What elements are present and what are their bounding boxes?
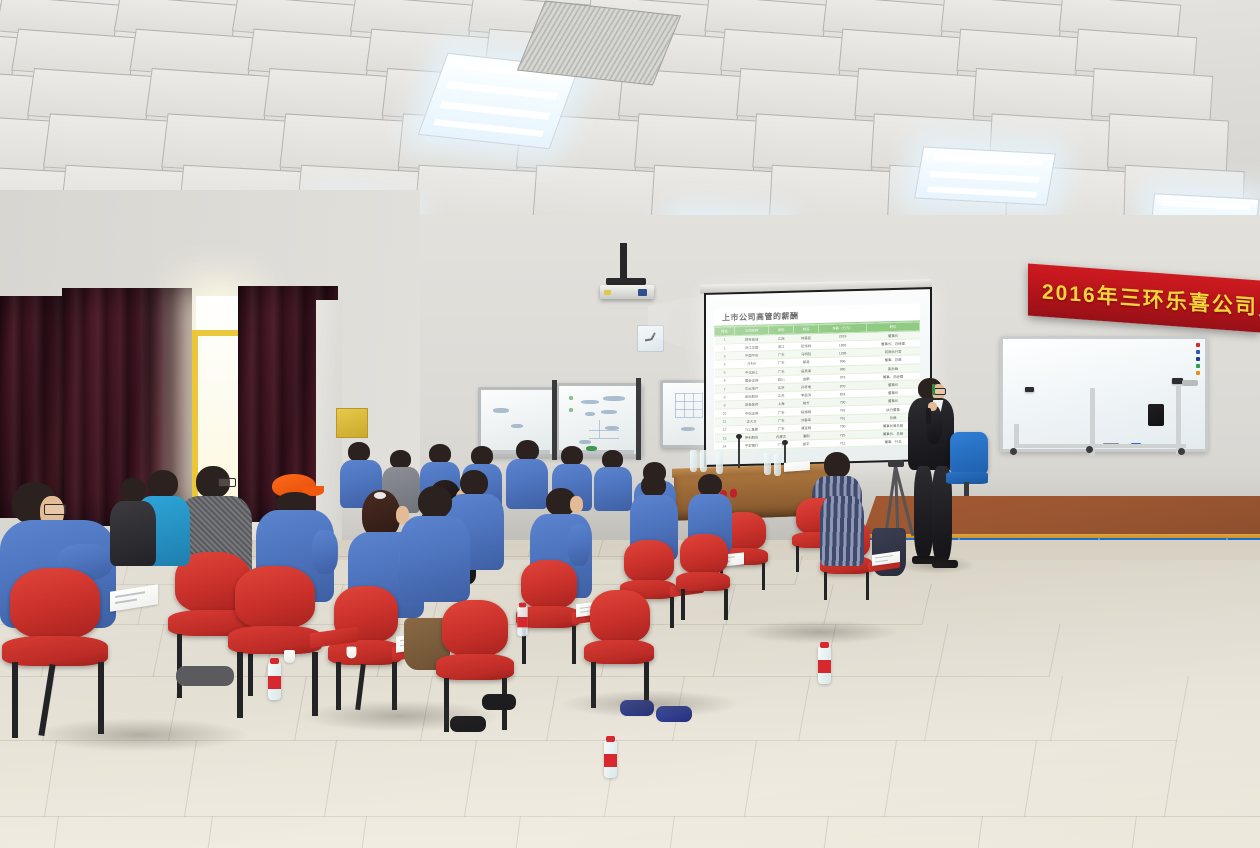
floor-tile	[936, 624, 1060, 677]
chair[interactable]	[2, 568, 110, 738]
document-on-podium[interactable]	[784, 461, 810, 472]
water-bottle[interactable]	[690, 450, 697, 472]
attendee	[110, 478, 156, 566]
floor-tile	[816, 816, 983, 848]
attendee-face	[570, 496, 583, 513]
floor-tile	[1164, 740, 1260, 817]
floor-tile	[1050, 676, 1189, 741]
laser-pointer[interactable]	[932, 384, 935, 395]
training-room-photo: 2016年三环乐喜公司员	[0, 0, 1260, 848]
ceiling-projector	[600, 285, 654, 299]
ceiling-light	[914, 146, 1056, 205]
projector-mount-plate	[606, 278, 646, 285]
attendee	[400, 486, 470, 602]
floor-tile	[884, 740, 1037, 817]
floor-tile	[798, 676, 937, 741]
microphone-head[interactable]	[736, 434, 742, 439]
microphone-stand	[738, 438, 740, 468]
projection-screen: 上市公司高管的薪酬 排名公司名称省份姓名年薪（万元）职位 1赣粤高速江西钟富民2…	[700, 282, 932, 464]
paper-cup[interactable]	[347, 647, 357, 659]
presentation-slide: 上市公司高管的薪酬 排名公司名称省份姓名年薪（万元）职位 1赣粤高速江西钟富民2…	[714, 303, 920, 450]
ceiling-tile	[161, 113, 287, 174]
floor-tile	[354, 816, 521, 848]
magnet-orange	[1196, 371, 1200, 375]
floor-tile	[464, 740, 617, 817]
water-bottle[interactable]	[716, 452, 723, 474]
hvac-vent	[517, 1, 681, 86]
floor-tile	[744, 740, 897, 817]
floor-tile	[0, 816, 59, 848]
floor-tile	[200, 816, 367, 848]
floor-tile	[184, 740, 337, 817]
eyeglasses	[44, 504, 66, 515]
floor-tile	[604, 740, 757, 817]
water-bottle[interactable]	[268, 662, 281, 700]
floor-tile	[662, 816, 829, 848]
chair[interactable]	[676, 534, 732, 620]
slide-table-body: 1赣粤高速江西钟富民2019董事长2浙江龙盛浙江阮伟祥1883董事长、总经理3中…	[715, 331, 920, 451]
floor-tile	[970, 816, 1137, 848]
banner-text: 2016年三环乐喜公司员	[1028, 274, 1260, 323]
mobile-whiteboard	[1000, 336, 1202, 459]
eyeglasses	[218, 478, 236, 487]
floor-tile	[508, 816, 675, 848]
water-bottle[interactable]	[818, 646, 831, 684]
water-bottle[interactable]	[517, 606, 527, 636]
floor-tile	[324, 740, 477, 817]
water-bottle[interactable]	[700, 450, 707, 472]
water-bottle[interactable]	[774, 454, 781, 476]
attendee	[820, 496, 864, 566]
ceiling-tile	[634, 113, 758, 174]
water-bottle[interactable]	[604, 740, 617, 778]
office-chair[interactable]	[946, 432, 990, 494]
handheld-microphone[interactable]	[926, 408, 931, 424]
water-bottle[interactable]	[764, 453, 771, 475]
attendee	[594, 450, 632, 510]
wall-notice-panel	[336, 408, 368, 438]
floor-tile	[1024, 740, 1177, 817]
floor-tile	[924, 676, 1063, 741]
ceiling-tile	[279, 113, 404, 174]
microphone-head[interactable]	[782, 440, 788, 445]
whiteboard-eraser[interactable]	[1025, 387, 1034, 392]
ceiling-tile	[43, 113, 169, 174]
magnet-blue	[1196, 350, 1200, 354]
wall-speaker	[1148, 404, 1164, 426]
magnet-green	[1196, 364, 1200, 368]
paper-cup[interactable]	[284, 650, 295, 663]
magnet-red	[1196, 343, 1200, 347]
slide-table: 排名公司名称省份姓名年薪（万元）职位 1赣粤高速江西钟富民2019董事长2浙江龙…	[714, 321, 920, 451]
presenter-leg	[914, 466, 933, 558]
shoe	[176, 666, 234, 686]
floor-tile	[1124, 816, 1260, 848]
presenter-glasses	[934, 388, 946, 395]
floor-tile	[725, 584, 834, 625]
chair[interactable]	[328, 586, 404, 710]
magnet-darkblue	[1196, 357, 1200, 361]
floor-tile	[46, 816, 213, 848]
